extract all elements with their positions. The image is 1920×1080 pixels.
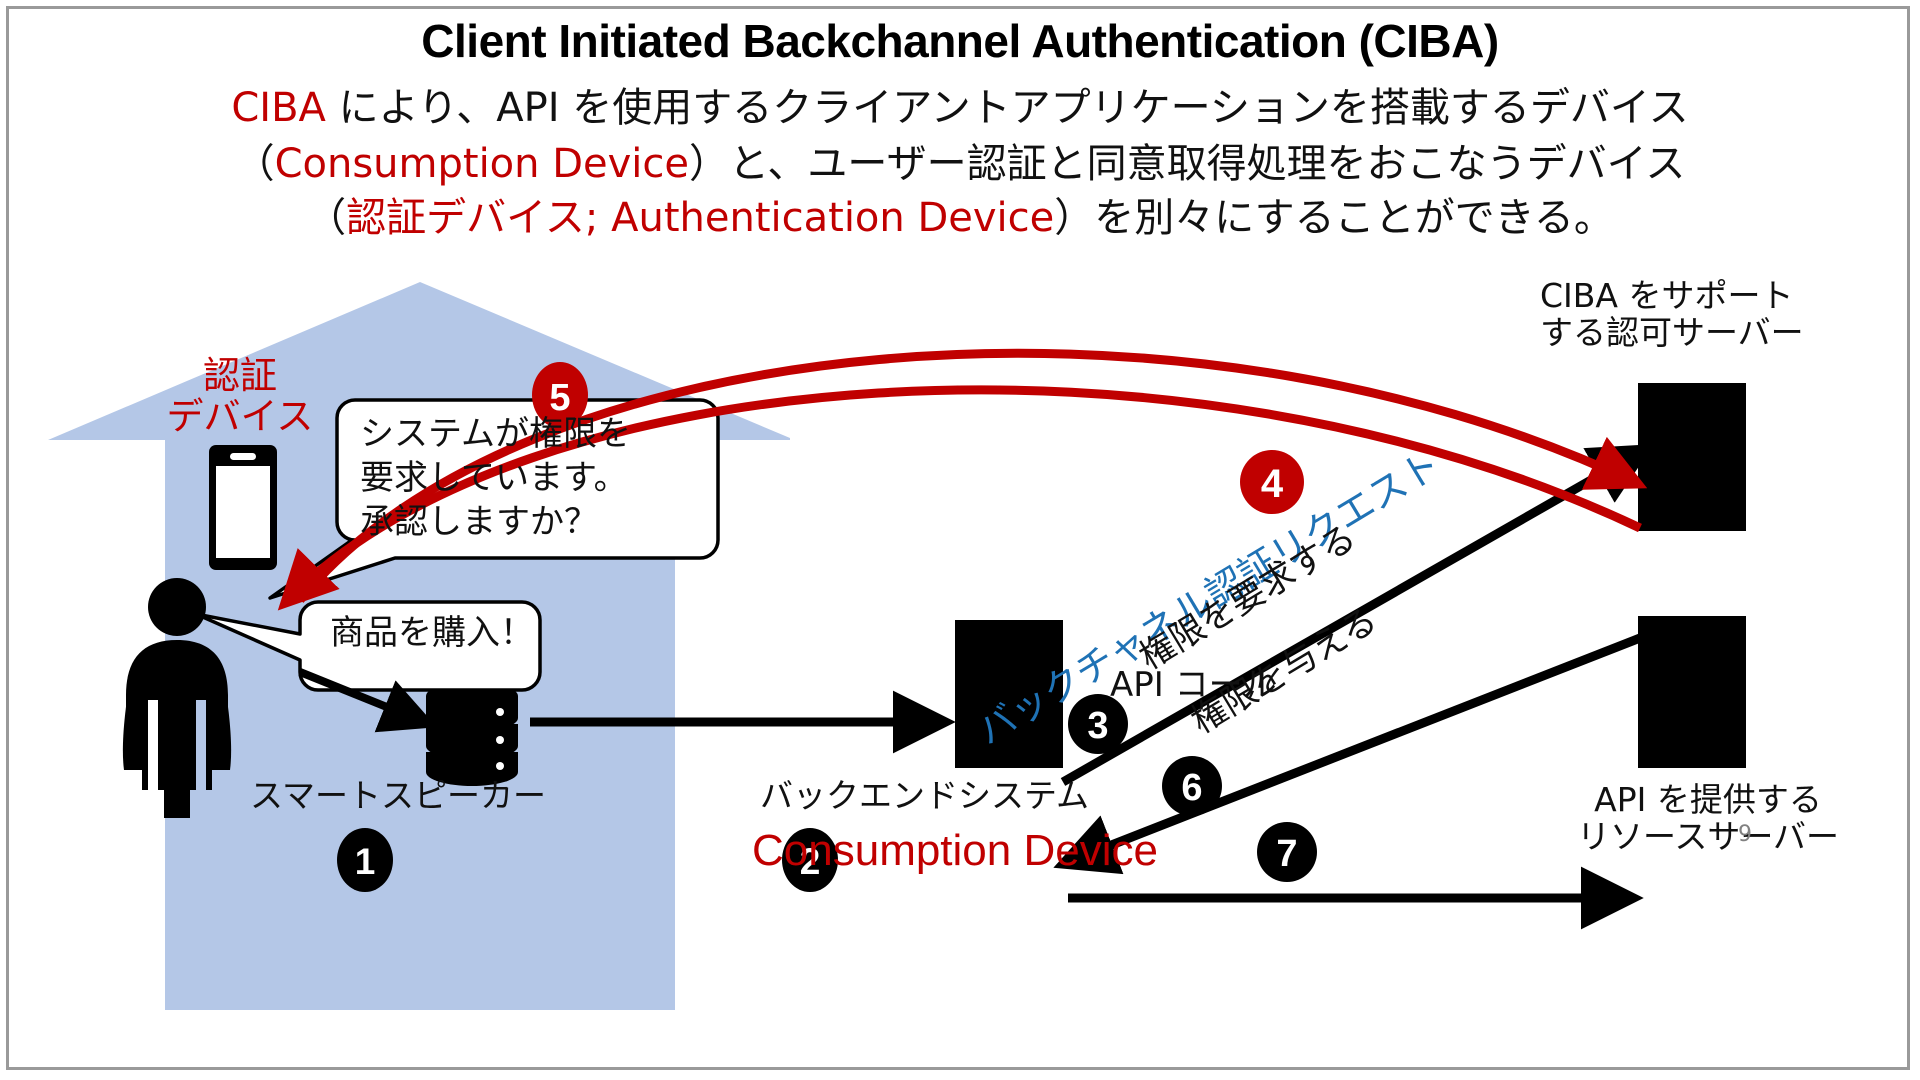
phone-bubble-text: システムが権限を 要求しています。 承認しますか？ (360, 412, 631, 545)
authorization-server-box (1638, 383, 1746, 531)
authentication-device-label-line2: デバイス (150, 396, 330, 437)
smart-speaker-label: スマートスピーカー (250, 778, 546, 815)
phone-bubble-line-2: 要求しています。 (360, 456, 631, 500)
slide-canvas: Client Initiated Backchannel Authenticat… (0, 0, 1920, 1080)
resource-server-label-line2: リソースサーバー (1538, 819, 1878, 856)
resource-server-label-line1: API を提供する (1538, 782, 1878, 819)
authorization-server-label: CIBA をサポート する認可サーバー (1540, 278, 1804, 352)
authorization-server-label-line1: CIBA をサポート (1540, 278, 1804, 315)
svg-text:4: 4 (1261, 462, 1284, 506)
svg-text:6: 6 (1181, 767, 1202, 809)
step-badge-7: 7 (1257, 822, 1317, 882)
authentication-device-label-line1: 認証 (150, 355, 330, 396)
phone-bubble-line-1: システムが権限を (360, 412, 631, 456)
smartphone-icon (209, 445, 277, 570)
authorization-server-label-line2: する認可サーバー (1540, 315, 1804, 352)
svg-text:3: 3 (1087, 705, 1108, 747)
authentication-device-label: 認証 デバイス (150, 355, 330, 438)
backend-system-label: バックエンドシステム (760, 778, 1089, 815)
step-badge-1: 1 (337, 828, 393, 892)
resource-server-box (1638, 616, 1746, 768)
person-bubble-text: 商品を購入！ (330, 614, 534, 652)
authorization-server-label-line1-rest: をサポート (1618, 276, 1794, 315)
svg-text:7: 7 (1276, 833, 1297, 875)
phone-bubble-line-3: 承認しますか？ (360, 500, 631, 544)
step-badge-4: 4 (1240, 450, 1304, 514)
resource-server-label: API を提供する リソースサーバー (1538, 782, 1878, 856)
svg-text:1: 1 (355, 841, 376, 882)
step-badge-6: 6 (1162, 756, 1222, 816)
diagram-canvas: 1 2 3 4 5 6 7 (0, 0, 1920, 1080)
smart-speaker-icon (426, 682, 518, 786)
consumption-device-label: Consumption Device (752, 826, 1158, 875)
authorization-server-ciba-token: CIBA (1540, 276, 1618, 315)
page-number: 9 (1738, 822, 1752, 847)
